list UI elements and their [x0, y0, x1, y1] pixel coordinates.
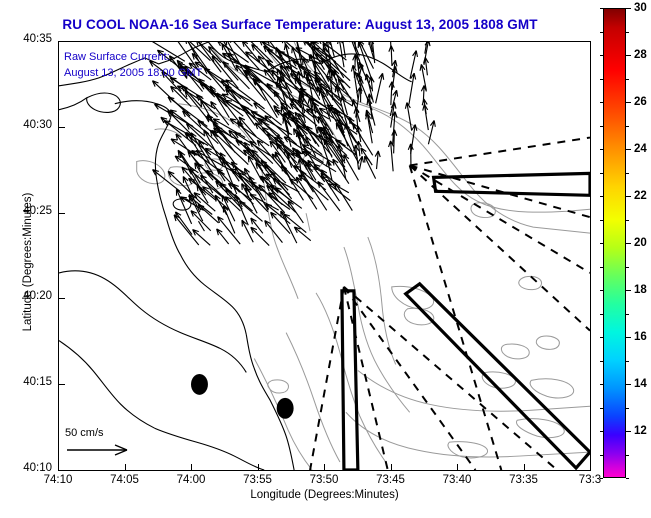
colorbar-minor-tick [626, 149, 629, 150]
colorbar-minor-tick [626, 384, 629, 385]
colorbar-minor-tick [626, 314, 629, 315]
x-tick-mark [125, 464, 126, 470]
colorbar-minor-tick [626, 55, 629, 56]
current-vector [365, 156, 376, 178]
colorbar-tick-label: 16 [634, 331, 647, 343]
colorbar-minor-tick [626, 337, 629, 338]
current-vector [283, 117, 291, 147]
current-vector [351, 65, 358, 100]
current-vector [218, 217, 241, 245]
current-vector [389, 141, 394, 171]
current-vector [376, 73, 384, 103]
colorbar-minor-tick [600, 102, 603, 103]
colorbar-minor-tick [600, 314, 603, 315]
y-tick-mark [59, 41, 65, 42]
colorbar-tick-label: 18 [634, 284, 647, 296]
figure-title: RU COOL NOAA-16 Sea Surface Temperature:… [0, 17, 600, 32]
current-vector [359, 156, 364, 169]
figure-canvas: RU COOL NOAA-16 Sea Surface Temperature:… [0, 0, 651, 518]
x-tick-label: 74:00 [177, 474, 206, 486]
current-vector [405, 103, 411, 131]
colorbar-minor-tick [626, 243, 629, 244]
current-vector [424, 57, 429, 75]
y-tick-mark [59, 470, 65, 471]
current-vector [335, 183, 352, 211]
x-tick-mark [391, 464, 392, 470]
colorbar-minor-tick [626, 8, 629, 9]
colorbar-minor-tick [626, 431, 629, 432]
colorbar-minor-tick [600, 243, 603, 244]
colorbar-minor-tick [600, 431, 603, 432]
map-graphics [59, 42, 590, 470]
colorbar-minor-tick [626, 173, 629, 174]
x-tick-label: 73:45 [376, 474, 405, 486]
annotation-line-1: Raw Surface Current: [64, 51, 170, 63]
station-marker [277, 398, 294, 419]
colorbar-minor-tick [600, 455, 603, 456]
x-tick-mark [191, 464, 192, 470]
colorbar-minor-tick [600, 361, 603, 362]
colorbar-minor-tick [600, 408, 603, 409]
colorbar-minor-tick [600, 173, 603, 174]
x-tick-label: 73:50 [310, 474, 339, 486]
colorbar-minor-tick [600, 337, 603, 338]
x-tick-mark [324, 464, 325, 470]
radar-station-markers [191, 374, 294, 419]
current-vector [375, 151, 380, 169]
y-tick-mark [59, 213, 65, 214]
colorbar-minor-tick [626, 267, 629, 268]
x-tick-label: 73:40 [443, 474, 472, 486]
scale-bar-label: 50 cm/s [65, 427, 137, 439]
colorbar-tick-label: 14 [634, 378, 647, 390]
scale-bar: 50 cm/s [65, 427, 137, 464]
colorbar-tick-label: 30 [634, 2, 647, 14]
colorbar-minor-tick [626, 478, 629, 479]
colorbar-minor-tick [626, 102, 629, 103]
colorbar-minor-tick [600, 32, 603, 33]
x-tick-mark [258, 464, 259, 470]
colorbar-tick-label: 28 [634, 49, 647, 61]
y-axis-title: Latitude (Degrees:Minutes) [22, 142, 34, 382]
x-tick-mark [457, 464, 458, 470]
colorbar [603, 8, 626, 478]
colorbar-minor-tick [600, 384, 603, 385]
right-arrow-icon [65, 439, 137, 459]
current-vector [392, 66, 397, 90]
colorbar-minor-tick [600, 196, 603, 197]
y-tick-mark [59, 298, 65, 299]
colorbar-minor-tick [626, 220, 629, 221]
colorbar-minor-tick [600, 126, 603, 127]
colorbar-minor-tick [600, 267, 603, 268]
y-tick-mark [59, 384, 65, 385]
x-tick-label: 74:10 [44, 474, 73, 486]
colorbar-tick-label: 20 [634, 237, 647, 249]
colorbar-tick-label: 26 [634, 96, 647, 108]
colorbar-minor-tick [600, 220, 603, 221]
colorbar-minor-tick [600, 290, 603, 291]
colorbar-minor-tick [600, 8, 603, 9]
annotation-line-2: August 13, 2005 18:00 GMT [64, 67, 202, 79]
colorbar-tick-label: 12 [634, 425, 647, 437]
colorbar-minor-tick [600, 55, 603, 56]
current-vector [175, 212, 192, 235]
map-plot-area: Raw Surface Current: August 13, 2005 18:… [58, 41, 591, 471]
current-vector [228, 53, 260, 81]
x-tick-label: 73:3 [579, 474, 601, 486]
colorbar-minor-tick [600, 79, 603, 80]
colorbar-minor-tick [626, 455, 629, 456]
x-axis-title: Longitude (Degrees:Minutes) [58, 489, 591, 501]
colorbar-tick-label: 22 [634, 190, 647, 202]
station-marker [191, 374, 208, 395]
current-vector [193, 230, 211, 246]
x-tick-label: 73:55 [243, 474, 272, 486]
colorbar-minor-tick [626, 32, 629, 33]
colorbar-minor-tick [626, 196, 629, 197]
colorbar-minor-tick [600, 478, 603, 479]
colorbar-minor-tick [626, 79, 629, 80]
colorbar-minor-tick [626, 361, 629, 362]
x-tick-mark [524, 464, 525, 470]
colorbar-minor-tick [626, 408, 629, 409]
y-tick-mark [59, 127, 65, 128]
colorbar-minor-tick [626, 126, 629, 127]
colorbar-tick-label: 24 [634, 143, 647, 155]
colorbar-minor-tick [600, 149, 603, 150]
x-tick-label: 74:05 [110, 474, 139, 486]
current-vector [265, 220, 283, 242]
x-tick-label: 73:35 [509, 474, 538, 486]
current-vector [217, 229, 229, 244]
current-vector [242, 42, 259, 62]
x-tick-mark [590, 464, 591, 470]
colorbar-minor-tick [626, 290, 629, 291]
